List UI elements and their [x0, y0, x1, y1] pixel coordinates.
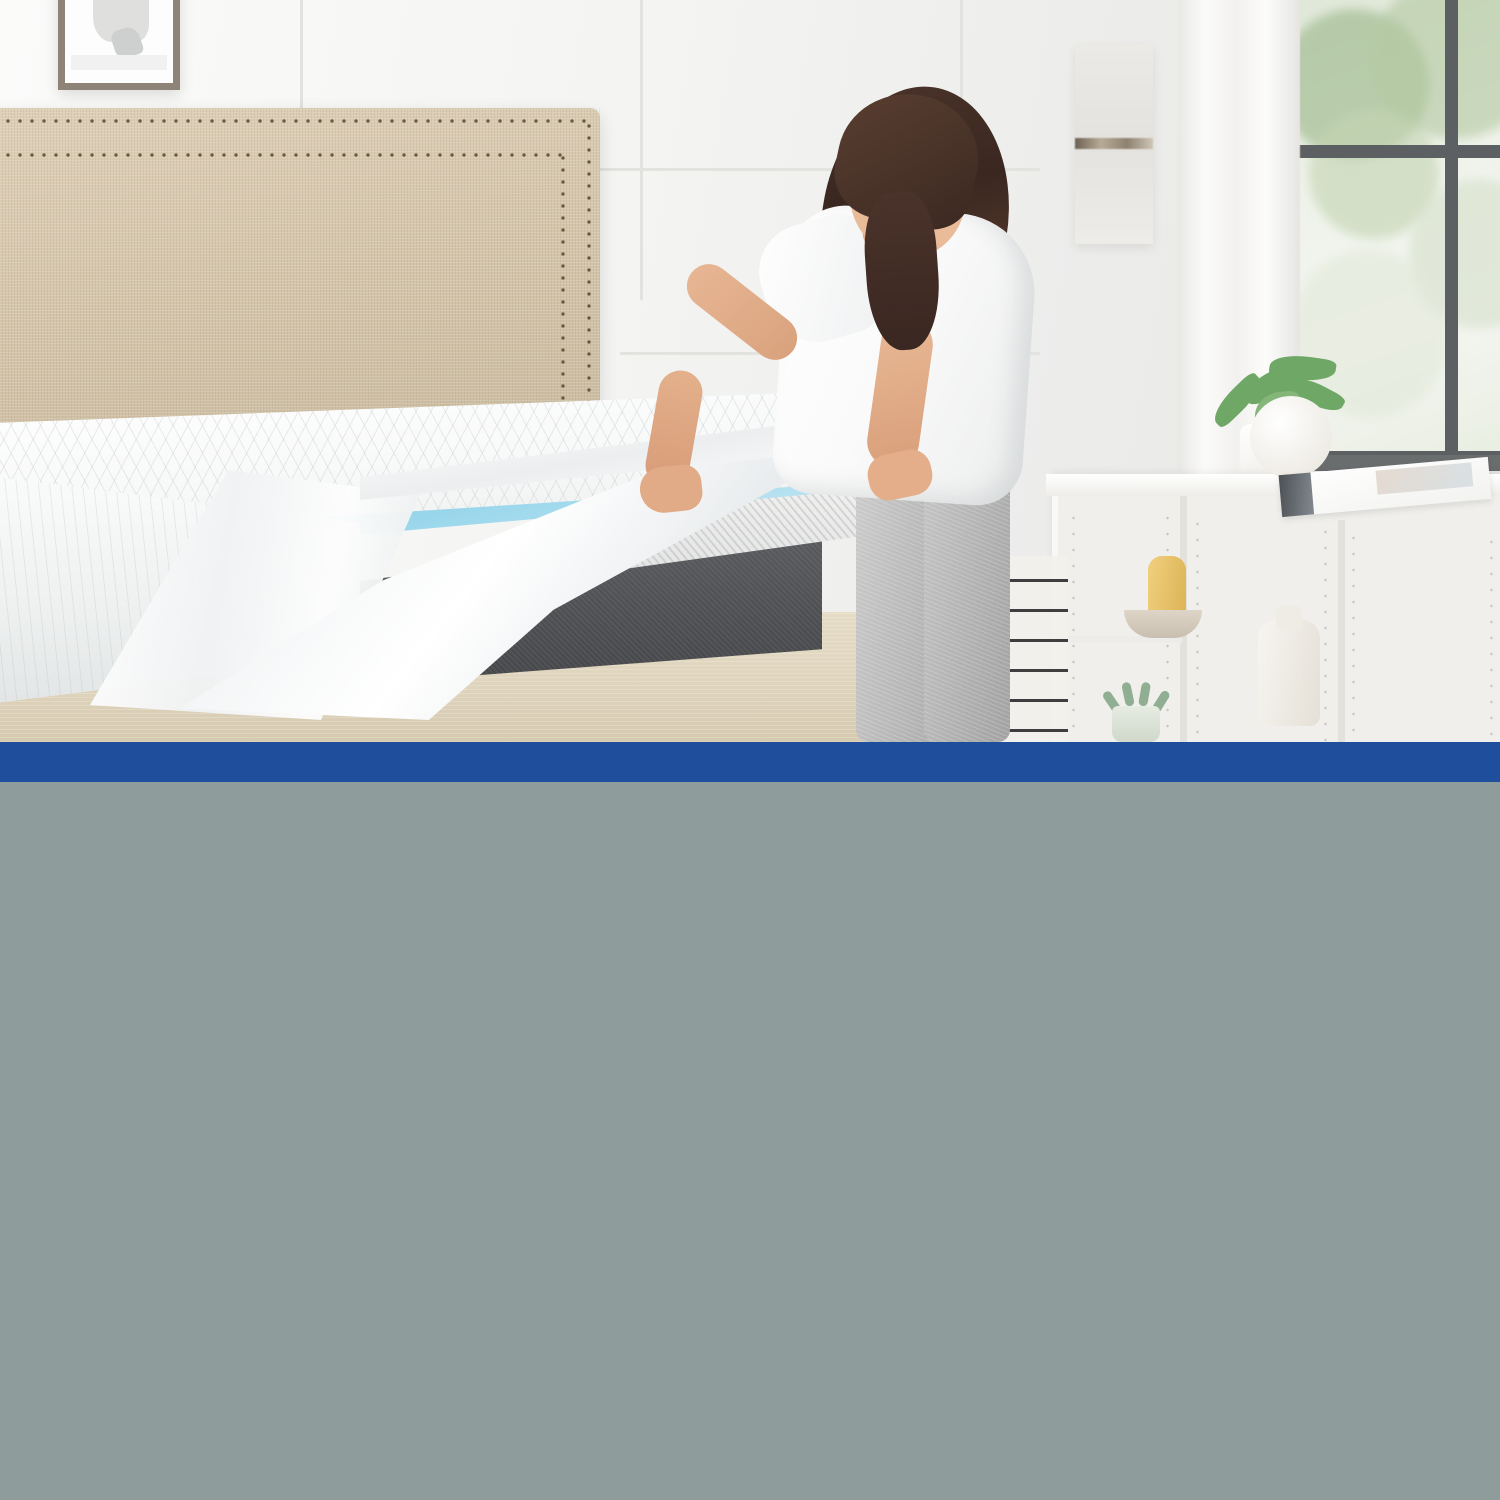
white-bottle-vase: [1258, 620, 1320, 726]
wall-panel-line: [640, 0, 643, 300]
round-white-vase: [1250, 396, 1332, 478]
tall-wall-art-icon: [1075, 44, 1153, 244]
lifestyle-product-photo: [0, 0, 1500, 742]
person: [660, 70, 1080, 742]
shelf-divider: [1338, 520, 1345, 742]
product-feature-infographic: EASY CARE COVER removable & machine wash…: [0, 0, 1500, 1500]
brand-divider-bar: [0, 742, 1500, 782]
framed-wall-art-icon: [58, 0, 180, 90]
succulent-pot: [1112, 706, 1160, 742]
hand: [638, 463, 704, 515]
feature-list-panel: EASY CARE COVER removable & machine wash…: [0, 782, 1500, 1500]
bed-headboard: [0, 108, 600, 428]
